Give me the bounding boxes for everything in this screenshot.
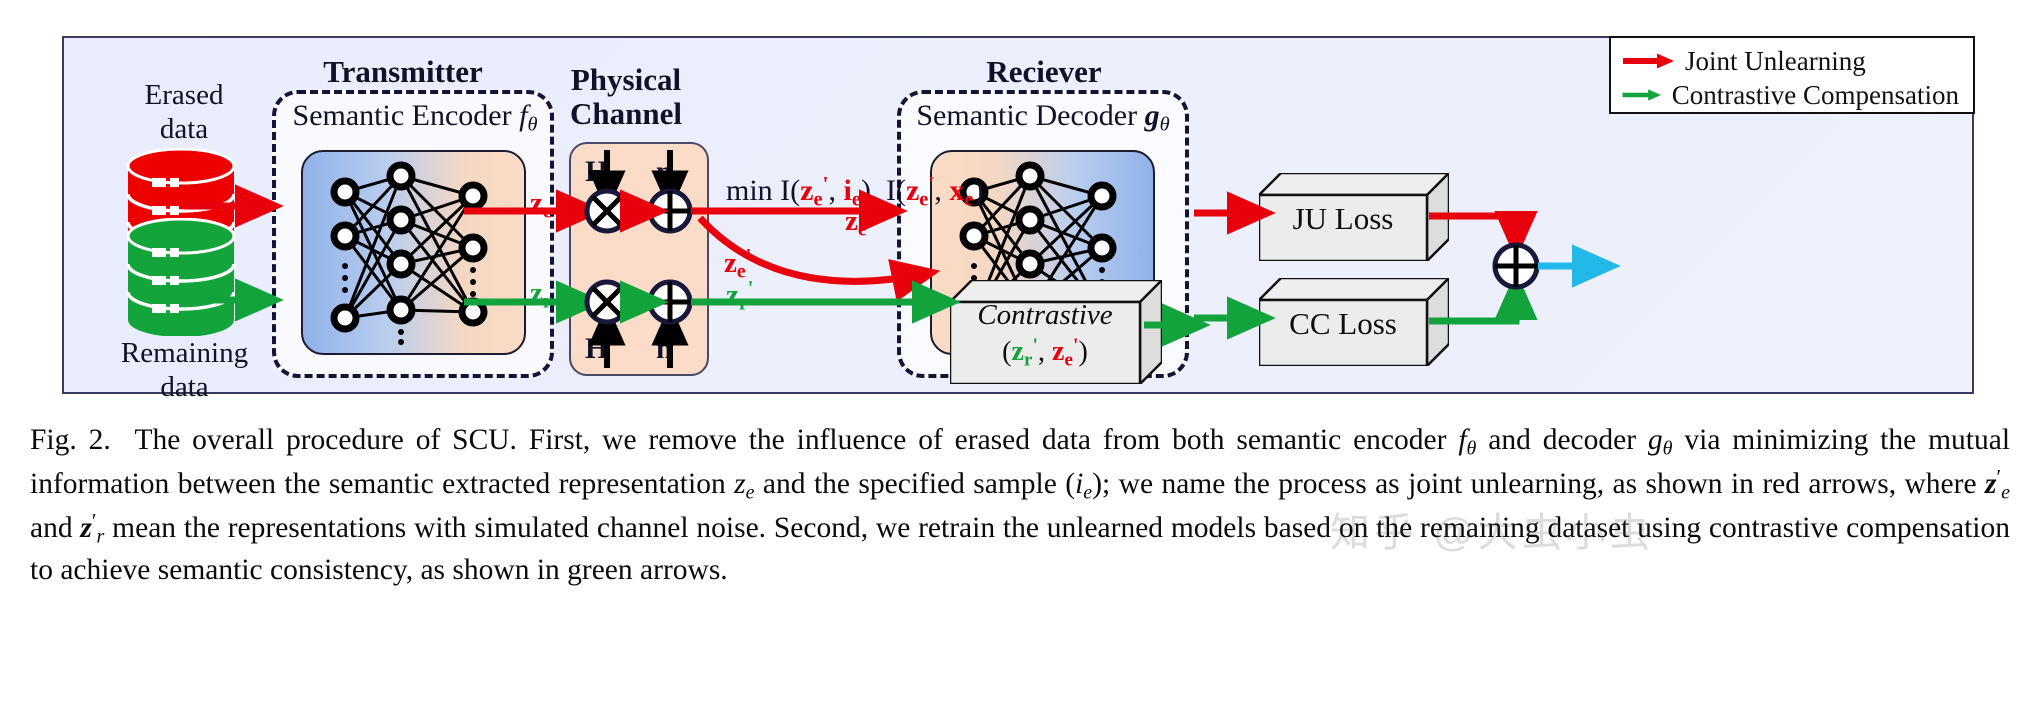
encoder-network-panel: [301, 150, 526, 355]
legend-box: Joint Unlearning Contrastive Compensatio…: [1609, 36, 1975, 114]
ju-loss-label: JU Loss: [1259, 203, 1427, 236]
caption-part6: and: [30, 512, 80, 544]
channel-matrix-label-bottom: H: [585, 333, 608, 365]
ze-prime-label-top: ze': [845, 204, 872, 240]
objective-prefix: min I(: [726, 174, 800, 207]
caption-part2: and decoder: [1476, 424, 1648, 456]
objective-arg4: xe: [949, 174, 973, 207]
objective-suffix: ): [973, 174, 983, 207]
cc-loss-label: CC Loss: [1259, 308, 1427, 341]
objective-arg1: ze': [800, 174, 828, 207]
remaining-data-label-line2: data: [82, 372, 287, 402]
receiver-title: Reciever: [884, 56, 1204, 89]
remaining-data-cylinder-icon: [122, 218, 240, 336]
caption-part5: ); we name the process as joint unlearni…: [1092, 468, 1985, 500]
legend-item-contrastive-compensation: Contrastive Compensation: [1621, 78, 1959, 112]
ze-label: ze: [530, 188, 552, 222]
decoder-subscript: θ: [1160, 114, 1170, 136]
objective-arg3: ze': [906, 174, 934, 207]
contrastive-args: (zr', ze'): [950, 336, 1140, 371]
decoder-symbol: g: [1145, 99, 1160, 132]
transmitter-title: Transmitter: [248, 56, 558, 89]
semantic-decoder-label: Semantic Decoder gθ: [904, 100, 1182, 136]
legend-green-arrow-icon: [1621, 86, 1662, 104]
encoder-neural-network-icon: [303, 152, 526, 355]
caption-part1: The overall procedure of SCU. First, we …: [134, 424, 1458, 456]
semantic-encoder-label: Semantic Encoder fθ: [282, 100, 548, 136]
diagram-panel: Transmitter Physical Channel Reciever Er…: [62, 36, 1974, 394]
legend-label-joint-unlearning: Joint Unlearning: [1685, 46, 1866, 77]
noise-label-top: n: [656, 156, 673, 188]
erased-data-label-line2: data: [94, 114, 274, 144]
erased-data-label-line1: Erased: [94, 80, 274, 110]
semantic-decoder-text: Semantic Decoder: [916, 99, 1137, 132]
noise-label-bottom: n: [656, 333, 673, 365]
legend-label-contrastive-compensation: Contrastive Compensation: [1672, 80, 1959, 111]
zr-prime-label: zr': [726, 278, 753, 314]
encoder-subscript: θ: [527, 114, 537, 136]
legend-red-arrow-icon: [1621, 52, 1675, 70]
caption-part7: mean the representations with simulated …: [30, 512, 2010, 587]
physical-channel-title-line1: Physical: [516, 64, 736, 97]
figure-root: Transmitter Physical Channel Reciever Er…: [0, 0, 2038, 710]
objective-arg2: ie: [844, 174, 861, 207]
legend-item-joint-unlearning: Joint Unlearning: [1621, 44, 1959, 78]
contrastive-title: Contrastive: [950, 300, 1140, 330]
caption-part4: and the specified sample (: [755, 468, 1076, 500]
zr-label: zr: [530, 278, 552, 312]
channel-matrix-label-top: H: [585, 156, 608, 188]
semantic-encoder-text: Semantic Encoder: [293, 99, 512, 132]
caption-figure-number: Fig. 2.: [30, 424, 111, 456]
figure-caption: Fig. 2. The overall procedure of SCU. Fi…: [30, 420, 2010, 591]
remaining-data-label-line1: Remaining: [82, 338, 287, 368]
